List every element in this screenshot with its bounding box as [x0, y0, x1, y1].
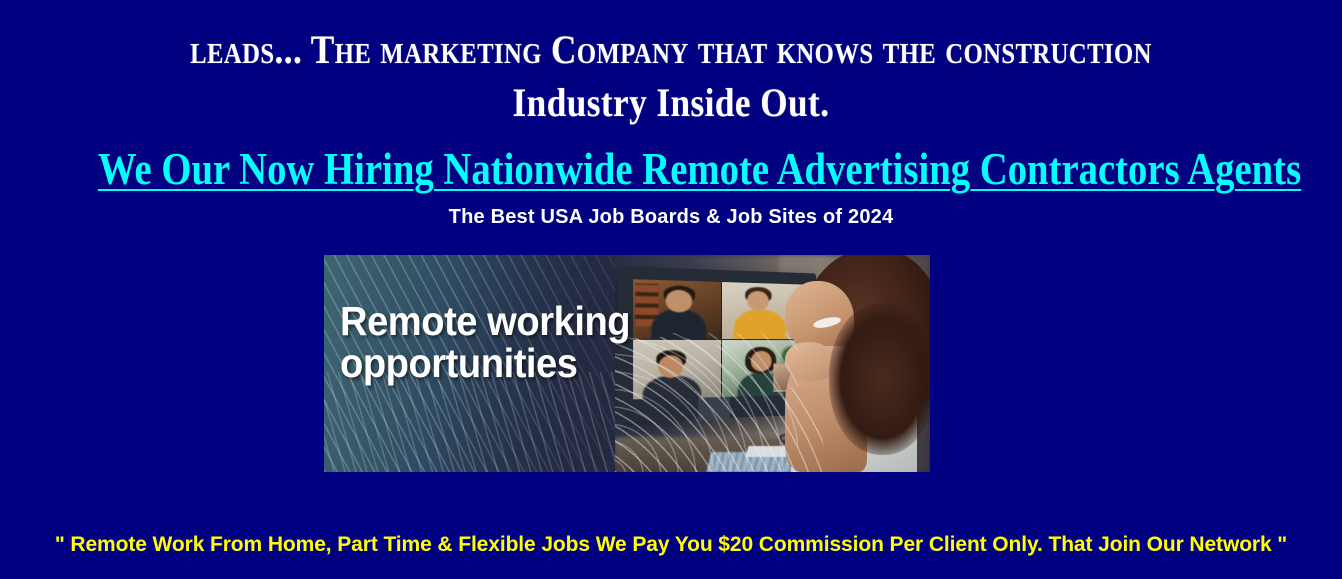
remote-working-banner-image[interactable]: Remote working opportunities: [324, 255, 930, 472]
subheadline: The Best USA Job Boards & Job Sites of 2…: [0, 206, 1342, 229]
hiring-link-container: We Our Now Hiring Nationwide Remote Adve…: [0, 146, 1342, 193]
monitor-stand: [698, 397, 730, 422]
banner-caption: Remote working opportunities: [340, 301, 875, 385]
banner-caption-line-2: opportunities: [340, 343, 875, 385]
banner-image-container: Remote working opportunities: [324, 255, 930, 472]
banner-caption-line-1: Remote working: [340, 301, 875, 343]
hiring-announcement-link[interactable]: We Our Now Hiring Nationwide Remote Adve…: [98, 146, 1301, 193]
headline-line-1: leads... The marketing Company that know…: [190, 27, 1152, 72]
page-root: leads... The marketing Company that know…: [0, 0, 1342, 579]
headline-line-2: Industry Inside Out.: [125, 77, 1216, 128]
page-headline: leads... The marketing Company that know…: [125, 0, 1216, 128]
commission-tagline: " Remote Work From Home, Part Time & Fle…: [0, 533, 1342, 557]
